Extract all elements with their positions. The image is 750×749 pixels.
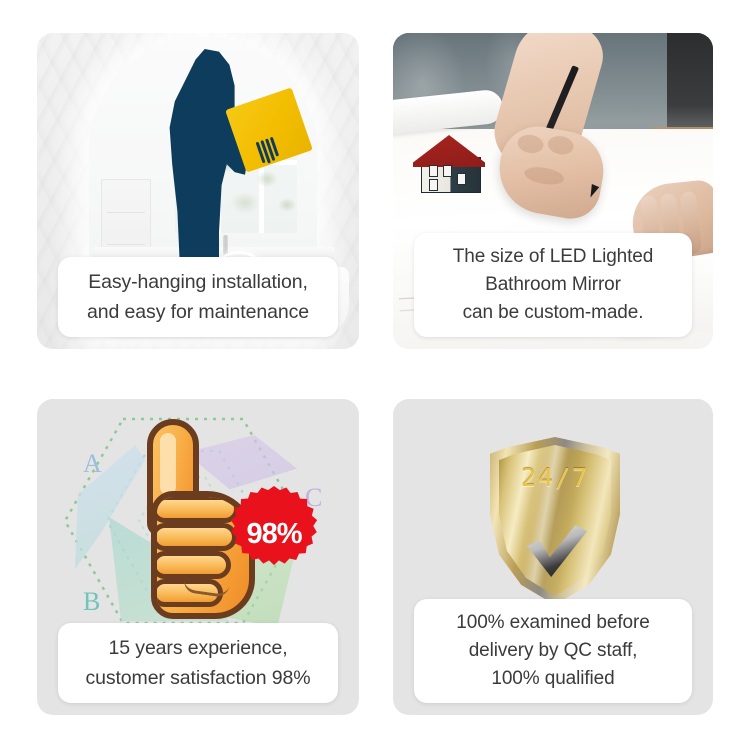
panel-caption: The size of LED Lighted Bathroom Mirror …: [414, 233, 692, 337]
hexagon-label-a: A: [83, 449, 102, 479]
caption-line: can be custom-made.: [422, 299, 684, 327]
panel-caption: Easy-hanging installation, and easy for …: [58, 257, 338, 337]
caption-line: and easy for maintenance: [66, 297, 330, 327]
panel-caption: 15 years experience, customer satisfacti…: [58, 623, 338, 703]
caption-line: delivery by QC staff,: [422, 637, 684, 665]
caption-line: 15 years experience,: [66, 633, 330, 663]
panel-experience-satisfaction[interactable]: A B C 98% 15 years experience, customer …: [37, 399, 359, 715]
shield-icon: 24/7: [490, 437, 620, 605]
caption-line: Bathroom Mirror: [422, 271, 684, 299]
panel-caption: 100% examined before delivery by QC staf…: [414, 599, 692, 703]
hexagon-label-b: B: [83, 587, 100, 617]
caption-line: 100% examined before: [422, 609, 684, 637]
house-roof: [413, 135, 485, 167]
caption-line: Easy-hanging installation,: [66, 267, 330, 297]
panel-custom-size[interactable]: The size of LED Lighted Bathroom Mirror …: [393, 33, 713, 349]
dark-background-strip: [667, 33, 713, 137]
badge-value: 98%: [226, 486, 322, 582]
panel-qc-inspection[interactable]: 24/7 100% examined before delivery by QC…: [393, 399, 713, 715]
caption-line: The size of LED Lighted: [422, 243, 684, 271]
satisfaction-badge: 98%: [226, 486, 322, 582]
shield-label: 24/7: [490, 463, 620, 492]
caption-line: 100% qualified: [422, 665, 684, 693]
panel-easy-hanging-installation[interactable]: Easy-hanging installation, and easy for …: [37, 33, 359, 349]
feature-panel-grid: Easy-hanging installation, and easy for …: [0, 0, 750, 749]
caption-line: customer satisfaction 98%: [66, 663, 330, 693]
model-house-icon: [413, 131, 485, 193]
